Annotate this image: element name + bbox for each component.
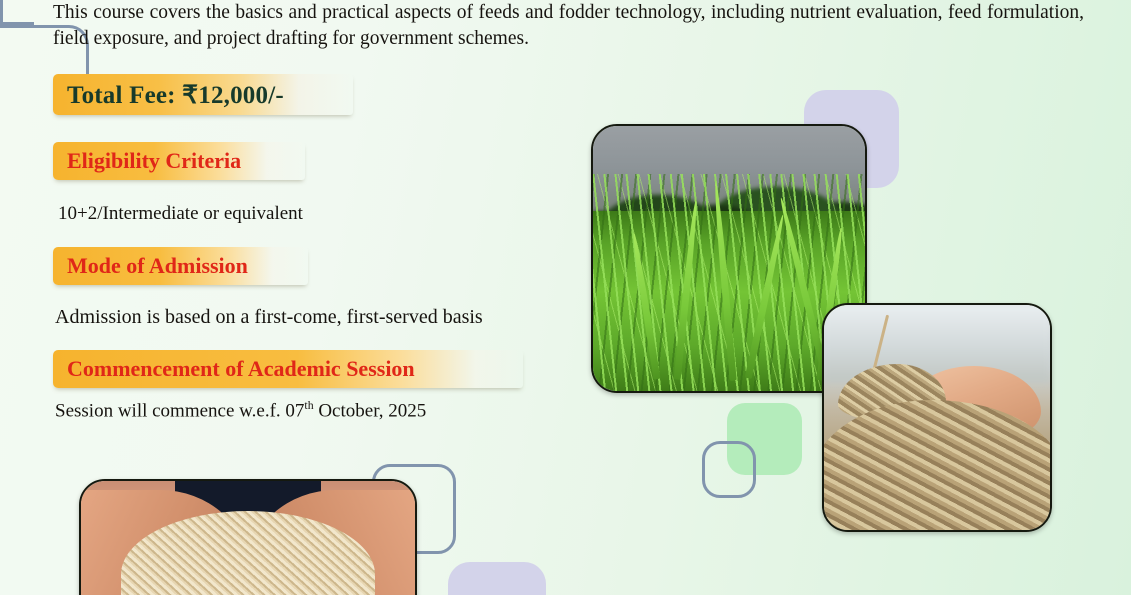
eligibility-criteria-text: 10+2/Intermediate or equivalent (58, 203, 303, 225)
total-fee-label: Total Fee: ₹12,000/- (53, 80, 284, 110)
commencement-banner: Commencement of Academic Session (53, 350, 523, 388)
mode-of-admission-banner: Mode of Admission (53, 247, 308, 285)
lavender-square-bottom (448, 562, 546, 595)
bran-in-hands-photo (79, 479, 417, 595)
mode-of-admission-label: Mode of Admission (53, 253, 248, 279)
commencement-label: Commencement of Academic Session (53, 356, 415, 382)
fodder-pellets-in-hand-photo (822, 303, 1052, 532)
eligibility-criteria-banner: Eligibility Criteria (53, 142, 305, 180)
course-info-poster: This course covers the basics and practi… (0, 0, 1131, 595)
commencement-ordinal-suffix: th (304, 399, 313, 412)
eligibility-criteria-label: Eligibility Criteria (53, 148, 241, 174)
commencement-text: Session will commence w.e.f. 07th Octobe… (55, 399, 426, 422)
commencement-text-suffix: October, 2025 (314, 400, 427, 421)
connector-vertical-grass-to-green (0, 0, 3, 22)
total-fee-banner: Total Fee: ₹12,000/- (53, 74, 353, 115)
mode-of-admission-text: Admission is based on a first-come, firs… (55, 306, 483, 329)
commencement-text-prefix: Session will commence w.e.f. 07 (55, 400, 304, 421)
outline-square-center (702, 441, 756, 498)
course-description: This course covers the basics and practi… (53, 0, 1084, 52)
